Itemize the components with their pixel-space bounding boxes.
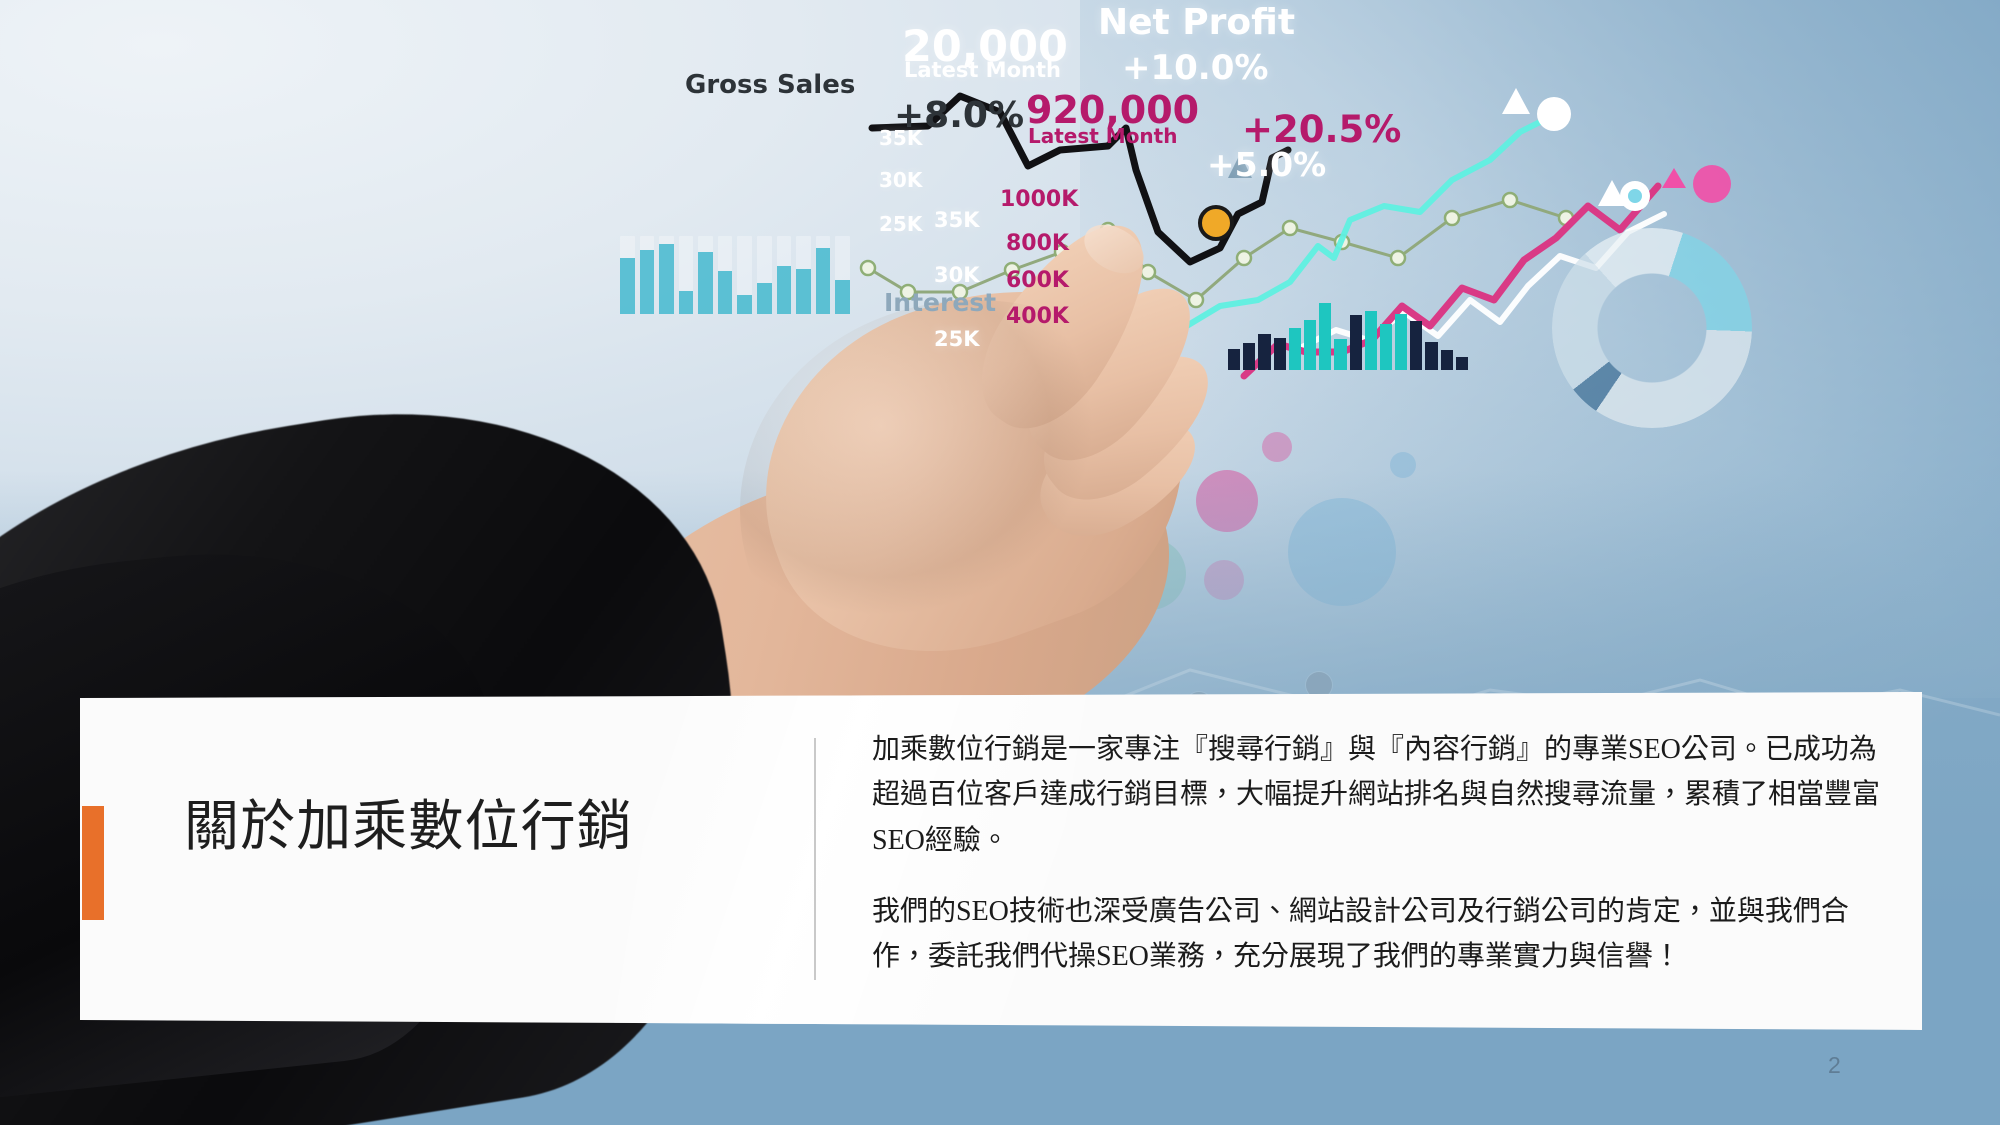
hero-label: Interest <box>884 288 996 317</box>
hero-label: Gross Sales <box>685 70 855 100</box>
hero-label: 30K <box>879 168 922 192</box>
hero-label: 400K <box>1006 304 1069 329</box>
hero-label: 35K <box>879 126 922 150</box>
hero-label: Net Profit <box>1098 2 1295 43</box>
hero-label: 600K <box>1006 268 1069 293</box>
hero-label: Latest Month <box>904 58 1061 82</box>
body-paragraph: 我們的SEO技術也深受廣告公司、網站設計公司及行銷公司的肯定，並與我們合作，委託… <box>872 889 1898 980</box>
title-body-divider <box>814 738 816 980</box>
body-text: 加乘數位行銷是一家專注『搜尋行銷』與『內容行銷』的專業SEO公司。已成功為超過百… <box>872 727 1898 980</box>
bokeh-dot <box>1262 432 1292 462</box>
page-number: 2 <box>1828 1052 1841 1079</box>
hero-label: 1000K <box>1000 187 1078 212</box>
hero-label: 800K <box>1006 231 1069 256</box>
slide-canvas: Gross Sales20,000Latest Month+8.0%35K30K… <box>0 0 2000 1125</box>
hero-label: 25K <box>934 327 980 351</box>
body-paragraph: 加乘數位行銷是一家專注『搜尋行銷』與『內容行銷』的專業SEO公司。已成功為超過百… <box>872 727 1898 863</box>
title-accent-bar <box>82 806 104 920</box>
interest-bar-chart <box>1228 300 1468 370</box>
hero-label: 25K <box>879 212 922 236</box>
hero-label: +10.0% <box>1122 48 1268 88</box>
page-title: 關於加乘數位行銷 <box>184 795 764 858</box>
hero-label: 35K <box>934 208 980 232</box>
hero-label: +5.0% <box>1207 145 1326 184</box>
gross-sales-bar-chart <box>620 236 850 314</box>
hero-label: 30K <box>934 263 980 287</box>
hero-label: Latest Month <box>1028 124 1177 148</box>
share-donut-chart <box>1552 228 1752 428</box>
